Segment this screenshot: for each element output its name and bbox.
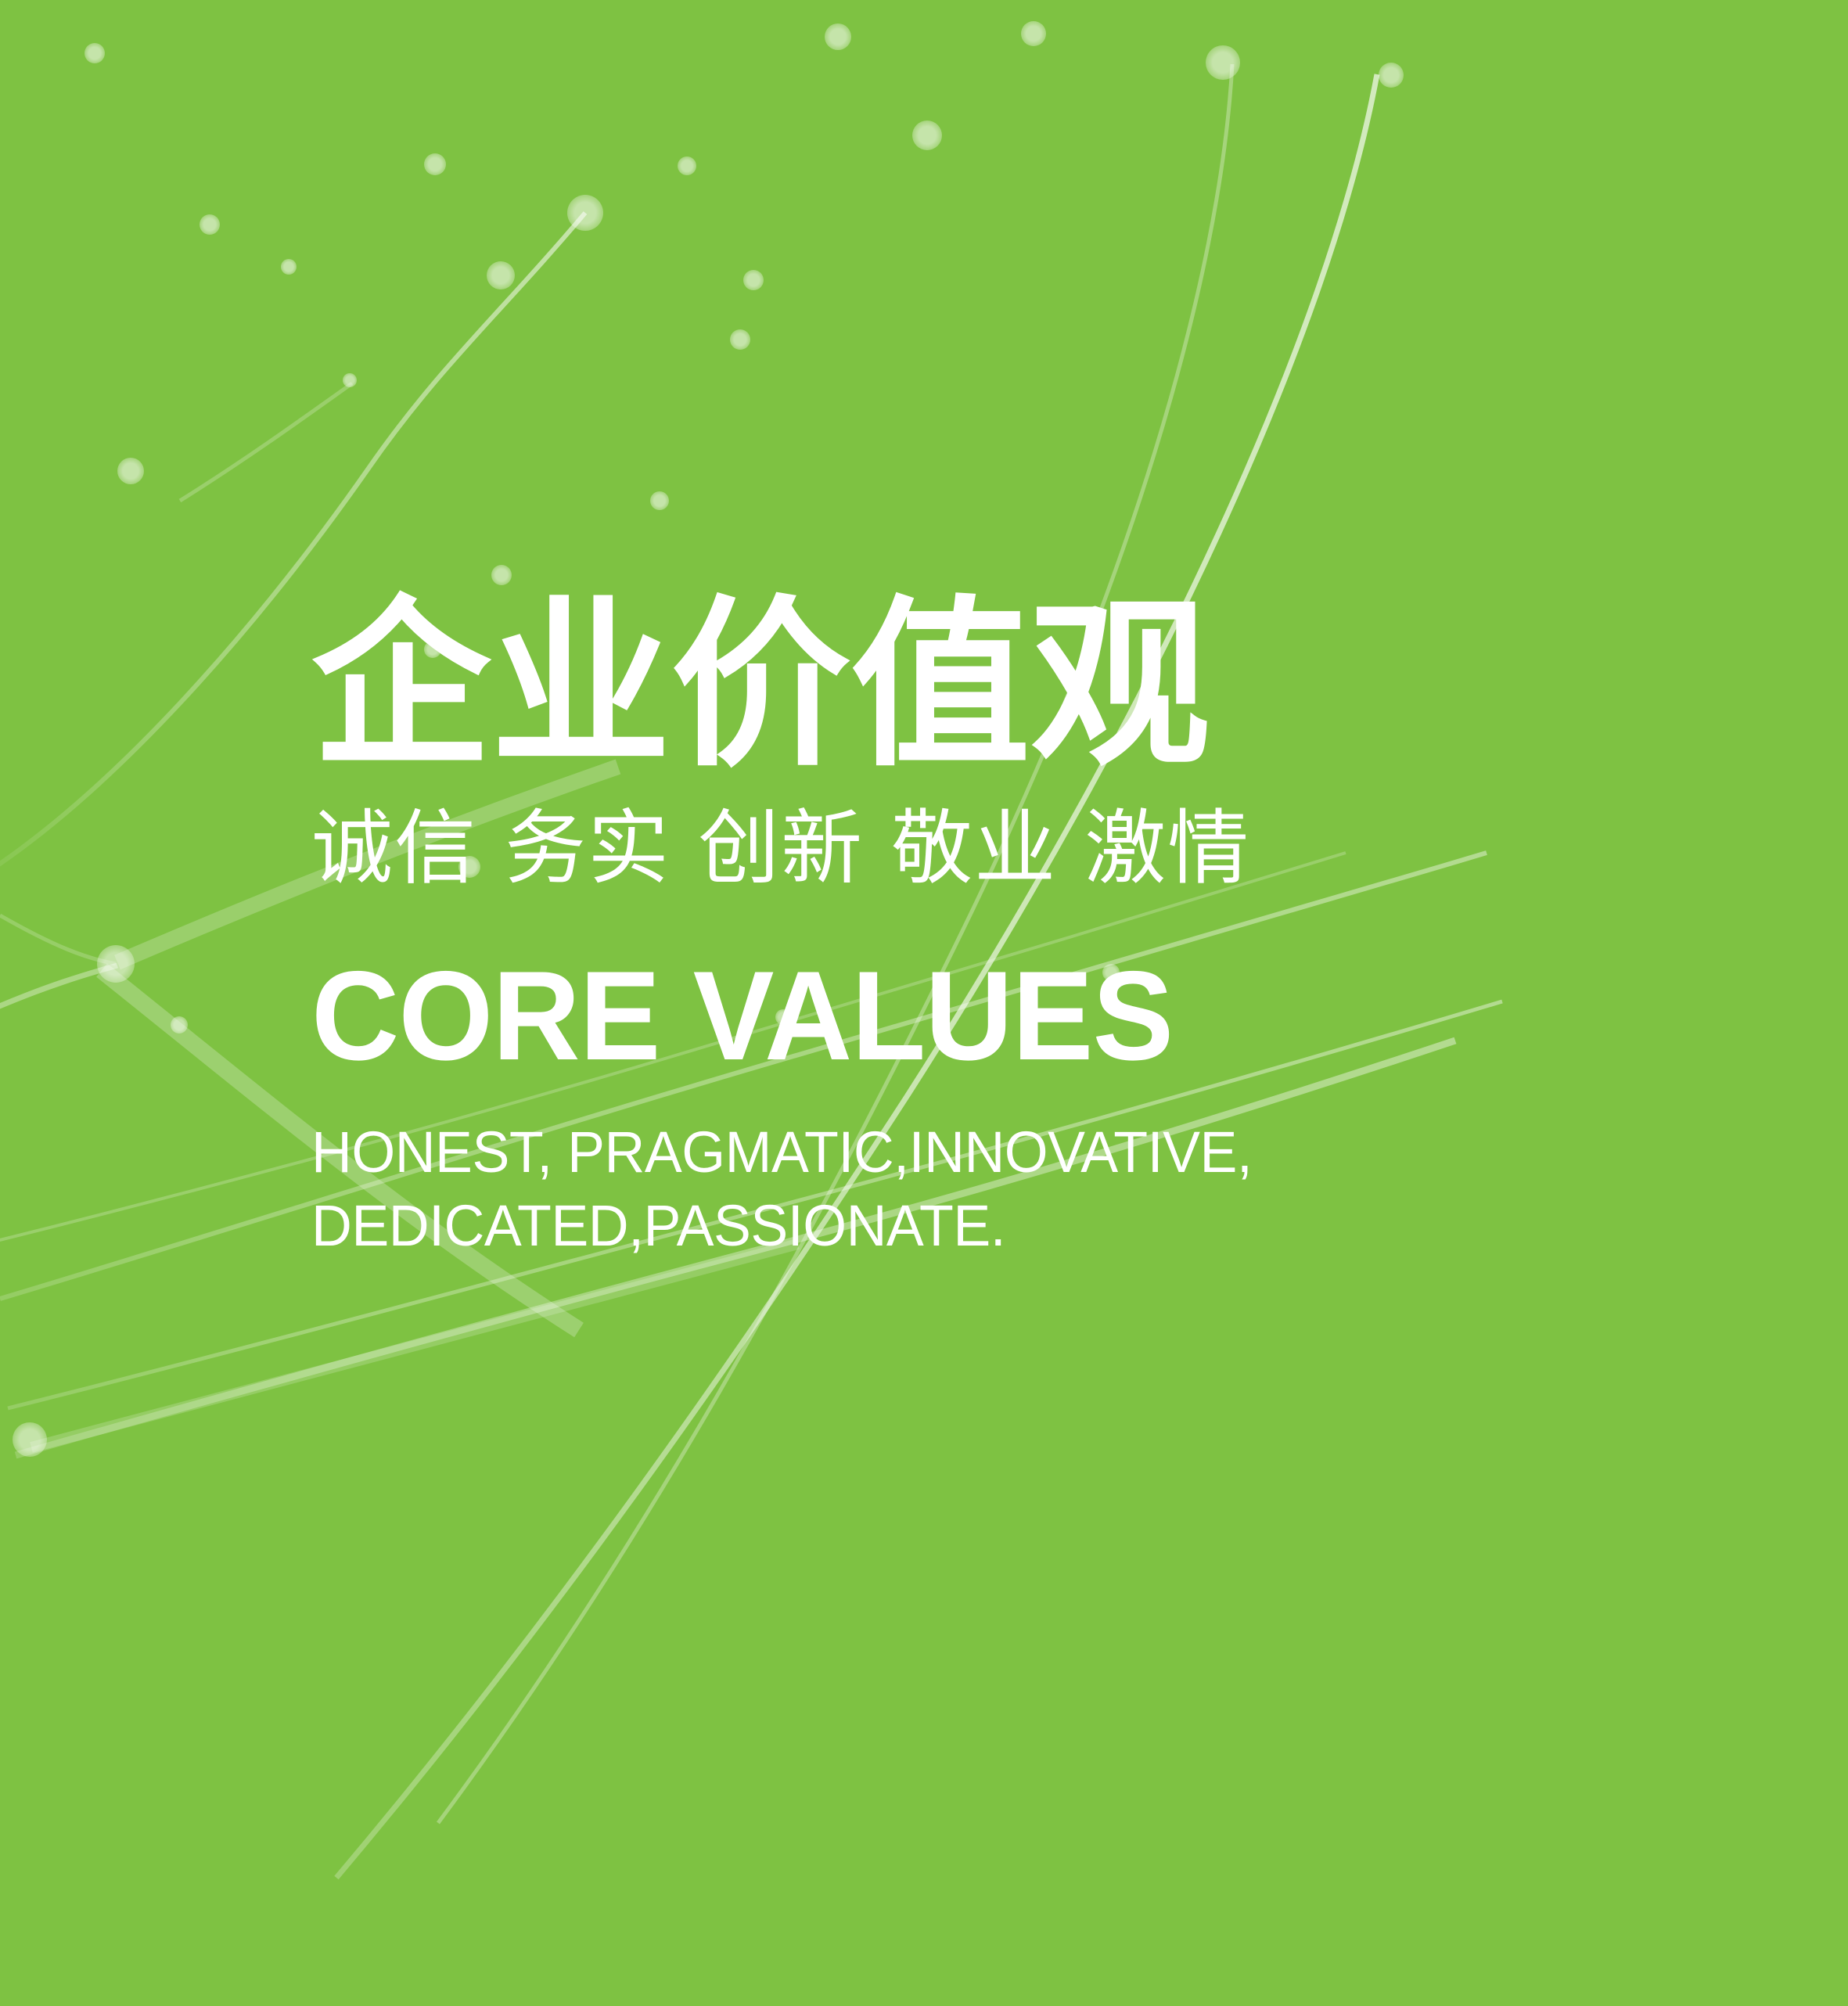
decor-node-dot xyxy=(912,120,942,150)
decor-node-dot xyxy=(1206,45,1240,80)
decor-node-dot xyxy=(200,214,220,235)
beam-left-diagonal-c xyxy=(31,1244,798,1447)
decor-node-dot xyxy=(281,259,297,275)
curve-left-spur-2 xyxy=(0,915,116,964)
body-english-line-1: HONEST, PRAGMATIC,INNOVATIVE, xyxy=(311,1116,1753,1189)
decor-node-dot xyxy=(678,156,696,175)
decor-node-dot xyxy=(171,1016,188,1034)
page-title-chinese: 企业价值观 xyxy=(311,595,1783,776)
decor-node-dot xyxy=(1379,63,1404,88)
decor-node-dot xyxy=(730,329,750,350)
decor-node-dot xyxy=(487,261,515,289)
decor-node-dot xyxy=(743,270,764,290)
curve-topleft-connector xyxy=(180,383,352,501)
decor-node-dot xyxy=(97,945,135,983)
decor-node-dot xyxy=(424,153,446,175)
decor-node-dot xyxy=(567,195,603,231)
subtitle-chinese: 诚信 务实 创新 敬业 激情 xyxy=(311,807,1798,889)
body-english-line-2: DEDICATED,PASSIONATE. xyxy=(311,1189,1753,1263)
decor-node-dot xyxy=(13,1422,47,1457)
core-values-poster: 企业价值观 诚信 务实 创新 敬业 激情 CORE VALUES HONEST,… xyxy=(0,0,1848,2006)
decor-node-dot xyxy=(825,23,851,50)
curve-left-spur xyxy=(0,965,117,1009)
decor-node-dot xyxy=(84,43,105,63)
decor-node-dot xyxy=(1021,21,1046,46)
body-english: HONEST, PRAGMATIC,INNOVATIVE, DEDICATED,… xyxy=(311,1116,1753,1263)
decor-node-dot xyxy=(343,373,357,387)
decor-node-dot xyxy=(650,491,669,510)
page-title-english: CORE VALUES xyxy=(311,953,1738,1080)
decor-node-dot xyxy=(117,458,144,484)
text-content-block: 企业价值观 诚信 务实 创新 敬业 激情 CORE VALUES HONEST,… xyxy=(311,595,1798,1263)
